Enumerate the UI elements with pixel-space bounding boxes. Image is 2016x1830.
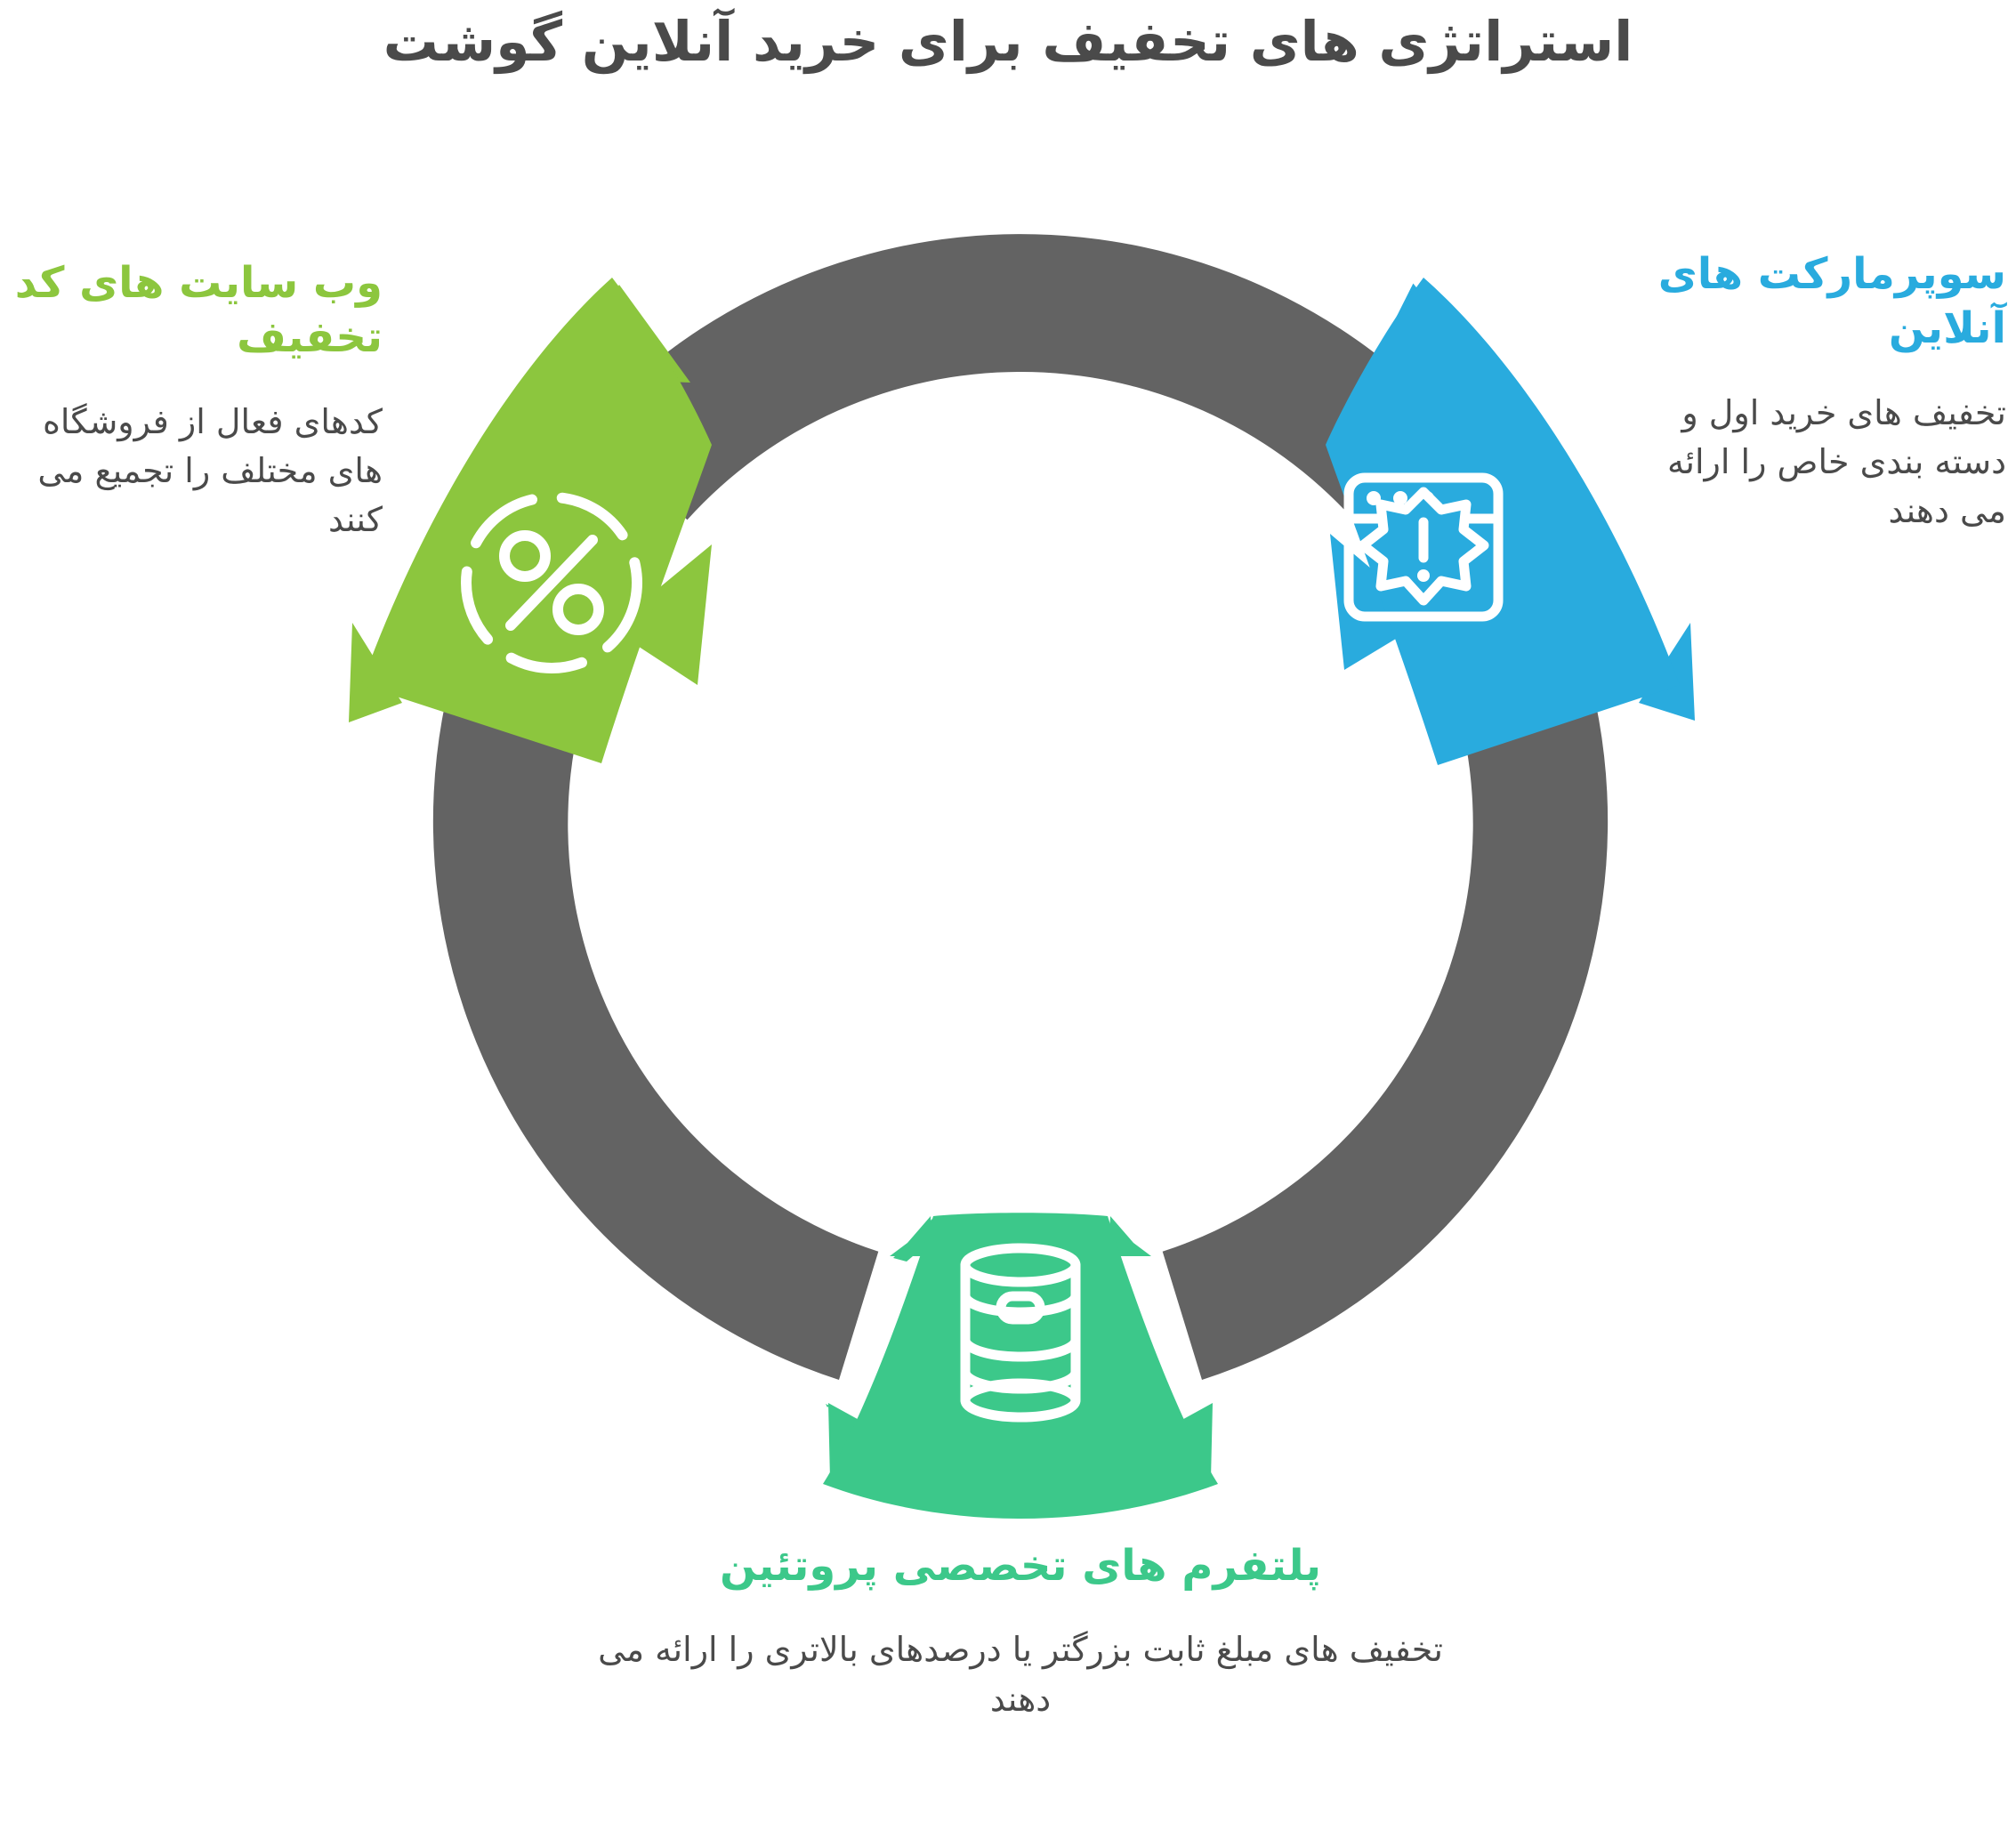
- label-heading-supermarket: سوپرمارکت های آنلاین: [1650, 247, 2006, 357]
- segment-protein[interactable]: [823, 1213, 1218, 1519]
- segment-supermarket[interactable]: [1326, 278, 1695, 765]
- label-heading-coupon: وب سایت های کد تخفیف: [9, 256, 383, 366]
- label-group-supermarket: سوپرمارکت های آنلاین تخفیف های خرید اول …: [1650, 247, 2006, 536]
- segment-coupon-body: [361, 278, 712, 763]
- label-group-coupon: وب سایت های کد تخفیف کدهای فعال از فروشگ…: [9, 256, 383, 544]
- label-body-coupon: کدهای فعال از فروشگاه های مختلف را تجمیع…: [9, 398, 383, 544]
- label-body-supermarket: تخفیف های خرید اول و دسته بندی خاص را ار…: [1650, 389, 2006, 536]
- label-body-protein: تخفیف های مبلغ ثابت بزرگتر یا درصدهای با…: [590, 1625, 1451, 1723]
- ring-arc-top: [585, 234, 1457, 520]
- segment-protein-body: [823, 1213, 1218, 1519]
- label-heading-protein: پلتفرم های تخصصی پروتئین: [590, 1539, 1451, 1593]
- label-group-protein: پلتفرم های تخصصی پروتئین تخفیف های مبلغ …: [590, 1539, 1451, 1724]
- segment-coupon[interactable]: [349, 278, 712, 763]
